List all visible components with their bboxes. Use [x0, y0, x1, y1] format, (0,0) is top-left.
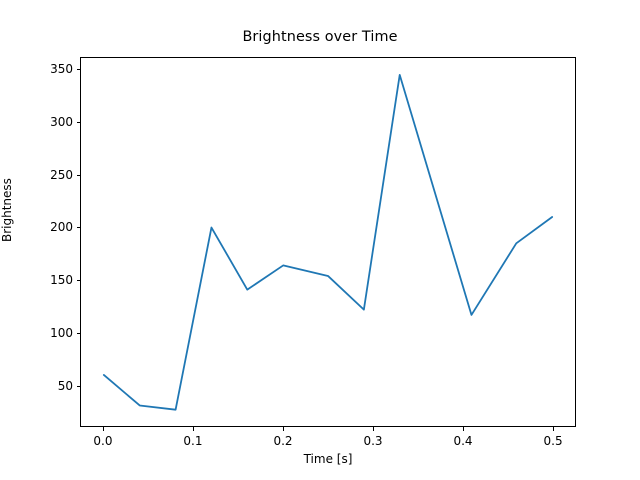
data-polyline	[104, 75, 552, 410]
x-tick-mark	[283, 427, 284, 431]
x-tick-mark	[373, 427, 374, 431]
chart-title: Brightness over Time	[0, 29, 640, 45]
x-tick-label: 0.2	[273, 434, 292, 448]
brightness-line-series	[81, 58, 575, 426]
y-tick-label: 350	[36, 62, 73, 76]
y-tick-label: 300	[36, 115, 73, 129]
y-tick-label: 200	[36, 220, 73, 234]
x-tick-label: 0.0	[93, 434, 112, 448]
figure-canvas: Brightness over Time Brightness Time [s]…	[0, 0, 640, 480]
x-tick-mark	[103, 427, 104, 431]
x-axis-label: Time [s]	[80, 452, 576, 466]
y-axis-label: Brightness	[0, 178, 14, 242]
y-tick-label: 50	[36, 379, 73, 393]
x-tick-mark	[463, 427, 464, 431]
x-tick-label: 0.4	[453, 434, 472, 448]
x-tick-label: 0.1	[183, 434, 202, 448]
x-tick-mark	[553, 427, 554, 431]
x-tick-label: 0.3	[363, 434, 382, 448]
y-tick-label: 250	[36, 168, 73, 182]
x-tick-mark	[193, 427, 194, 431]
x-tick-label: 0.5	[544, 434, 563, 448]
y-tick-label: 150	[36, 273, 73, 287]
y-tick-label: 100	[36, 326, 73, 340]
plot-area	[80, 57, 576, 427]
